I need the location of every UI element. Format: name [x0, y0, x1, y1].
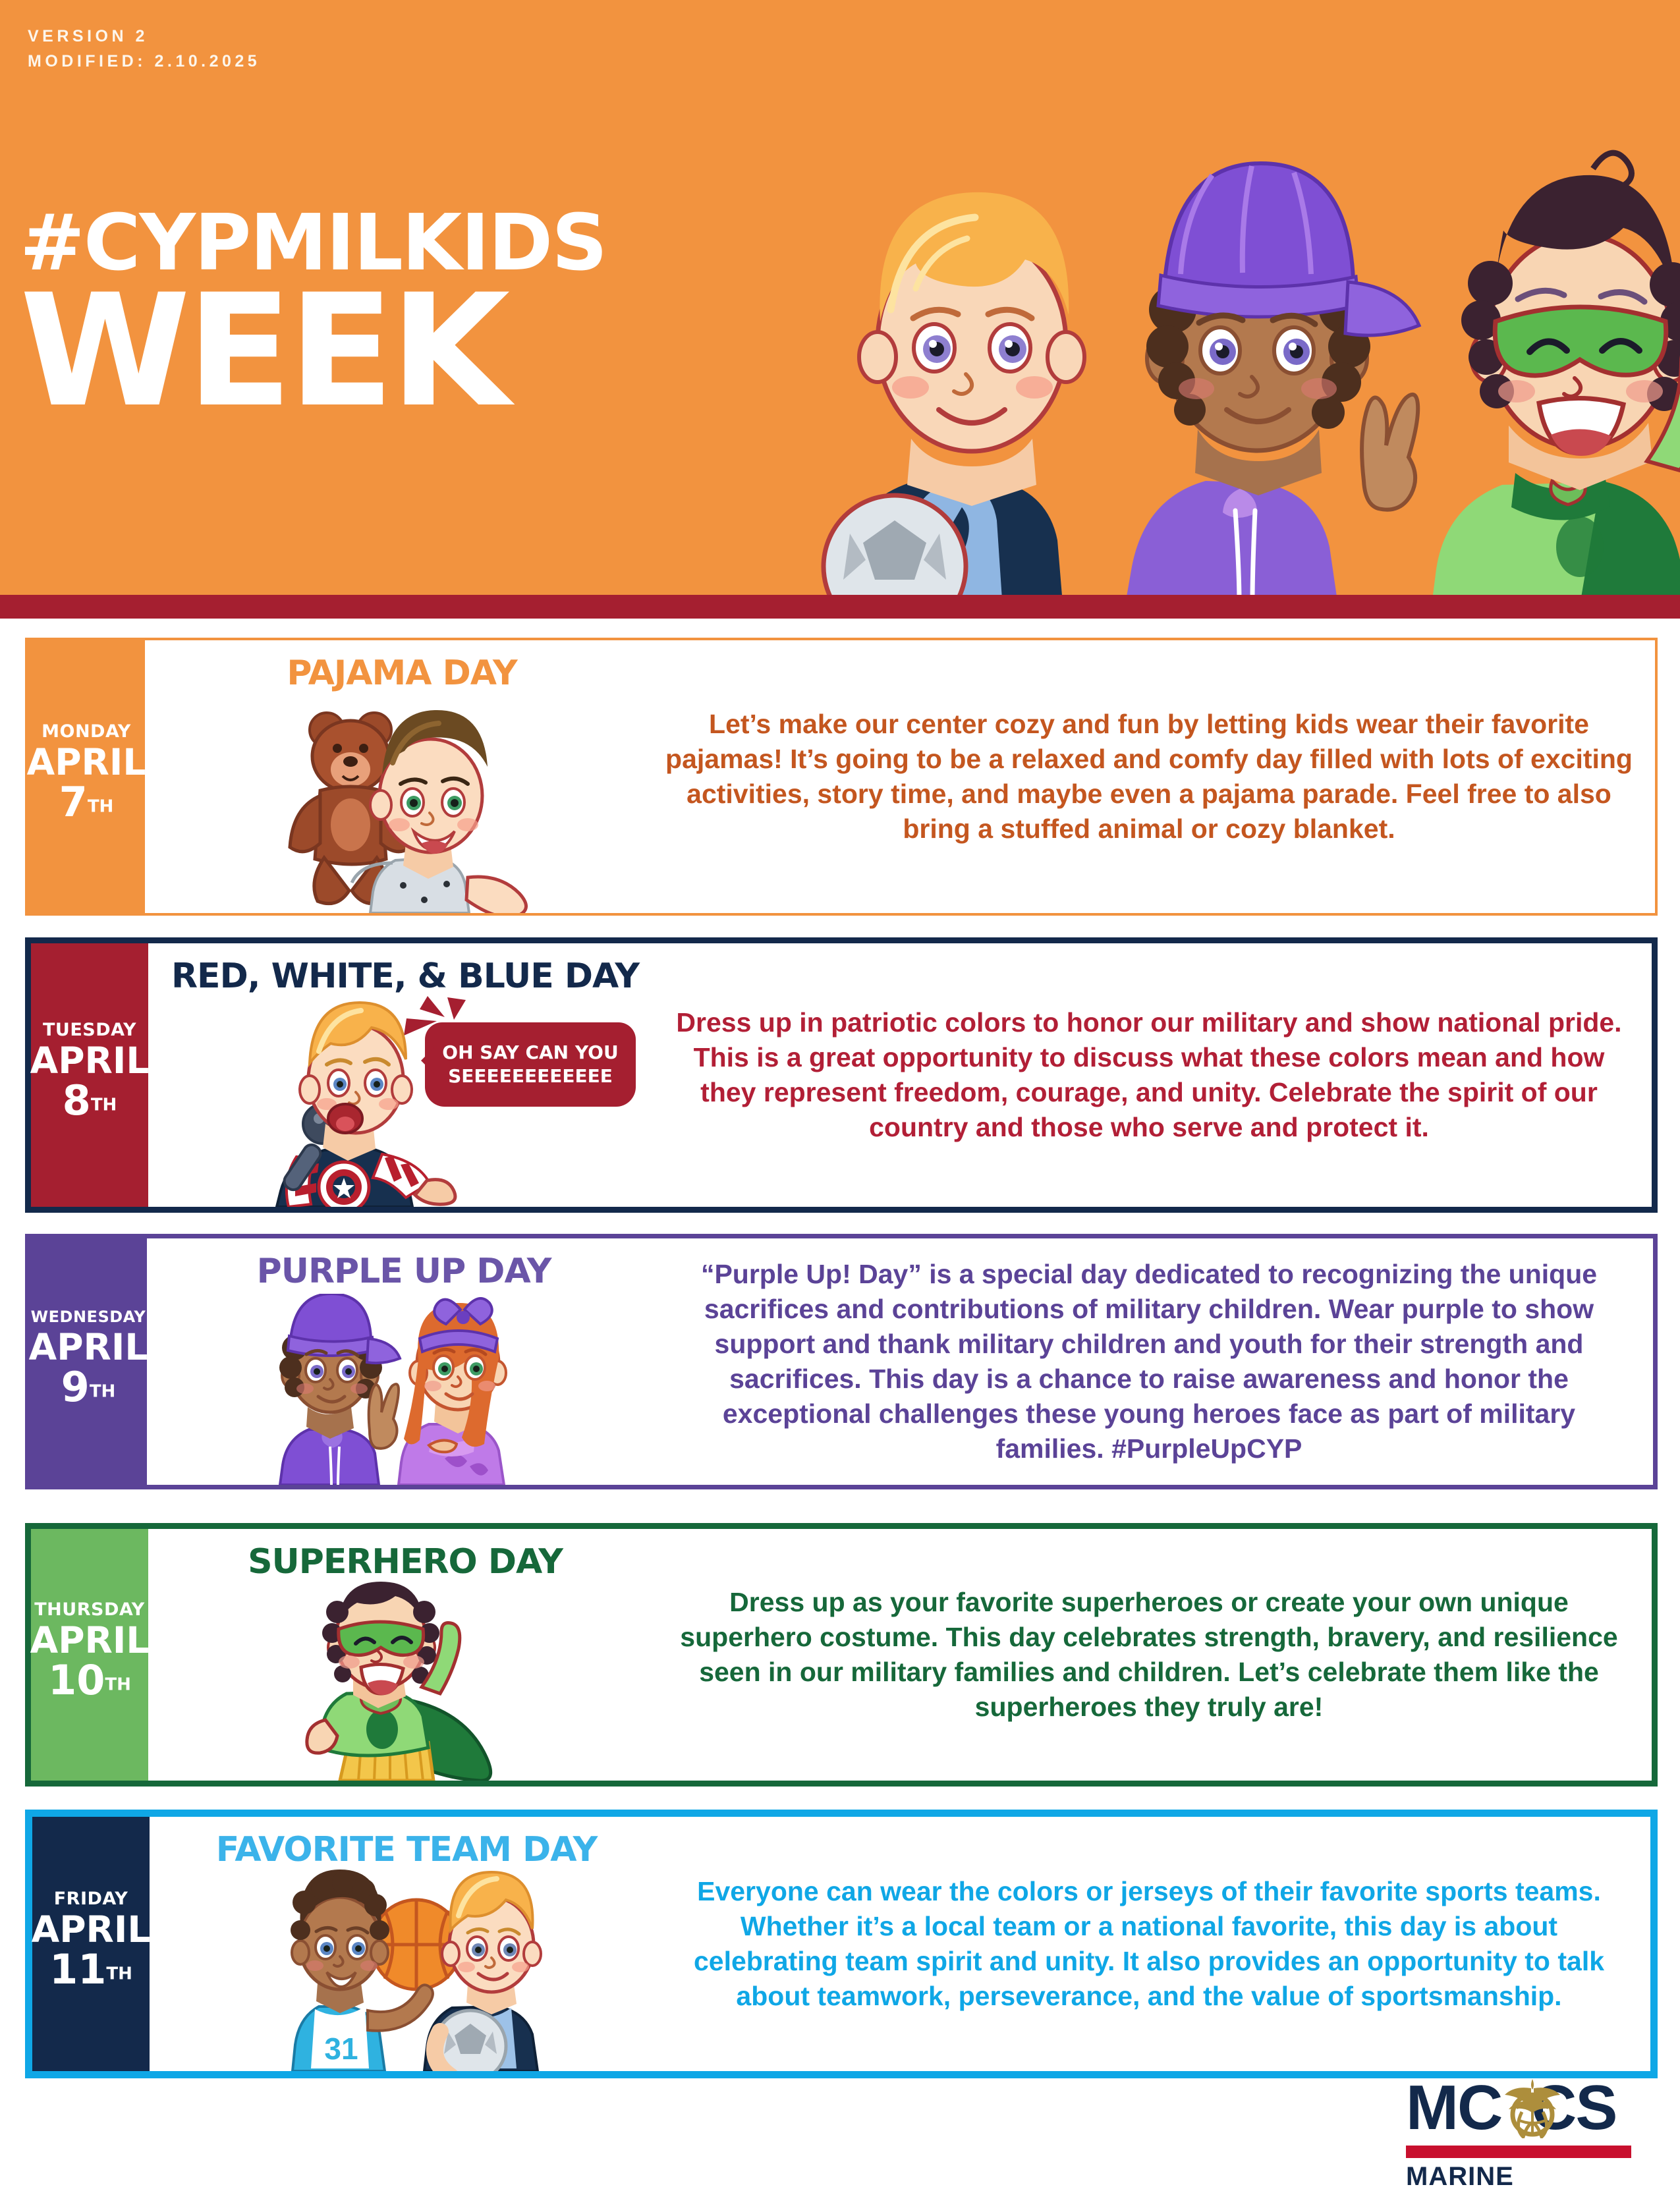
page-title-line2: WEEK — [20, 286, 606, 418]
header-accent-band — [0, 595, 1680, 619]
favorite-team-day-illustration: 31 — [275, 1867, 559, 2071]
day-of-week: MONDAY — [42, 721, 131, 742]
mccs-wordmark: MC CS — [1402, 2075, 1647, 2138]
row-body-tuesday: RED, WHITE, & BLUE DAY OH SAY CAN YOU SE… — [148, 943, 1652, 1207]
day-title-tuesday: RED, WHITE, & BLUE DAY — [148, 956, 662, 996]
art-column-thursday: SUPERHERO DAY — [148, 1529, 662, 1781]
day-description-tuesday: Dress up in patriotic colors to honor ou… — [669, 1005, 1629, 1145]
month-label: APRIL — [29, 1329, 148, 1366]
month-label: APRIL — [30, 1622, 150, 1659]
hashtag-purpleupcyp: #PurpleUpCYP — [1111, 1433, 1302, 1464]
bubble-line-1: OH SAY CAN YOU — [442, 1041, 618, 1065]
date-number: 7 — [59, 778, 88, 826]
date-number-wrap: 10TH — [48, 1661, 131, 1710]
art-column-friday: FAVORITE TEAM DAY 31 — [150, 1817, 663, 2071]
header-kids-illustration — [751, 112, 1680, 595]
date-block-monday: MONDAY APRIL 7TH — [28, 640, 145, 913]
day-of-week: TUESDAY — [43, 1020, 136, 1041]
date-number-wrap: 11TH — [49, 1951, 132, 1999]
text-column-monday: Let’s make our center cozy and fun by le… — [659, 640, 1655, 913]
patriotic-day-illustration — [245, 1001, 462, 1207]
mccs-logo: MC CS MARINE CORPS COMMUNITY SERVICES — [1402, 2075, 1647, 2189]
row-body-friday: FAVORITE TEAM DAY 31 — [150, 1817, 1650, 2071]
svg-text:31: 31 — [324, 2032, 358, 2066]
month-label: APRIL — [32, 1911, 151, 1948]
text-column-thursday: Dress up as your favorite superheroes or… — [662, 1529, 1652, 1781]
flyer-page: VERSION 2 MODIFIED: 2.10.2025 — [0, 0, 1680, 2189]
day-of-week: FRIDAY — [54, 1889, 128, 1910]
day-title-friday: FAVORITE TEAM DAY — [150, 1830, 663, 1870]
version-text: VERSION 2 — [28, 24, 260, 49]
day-row-thursday: THURSDAY APRIL 10TH SUPERHERO DAY — [25, 1523, 1658, 1787]
day-row-tuesday: TUESDAY APRIL 8TH RED, WHITE, & BLUE DAY… — [25, 937, 1658, 1213]
day-title-monday: PAJAMA DAY — [145, 653, 659, 693]
month-label: APRIL — [30, 1042, 150, 1079]
date-number-wrap: 9TH — [61, 1368, 116, 1417]
day-description-friday: Everyone can wear the colors or jerseys … — [670, 1874, 1628, 2014]
bubble-line-2: SEEEEEEEEEEEE — [448, 1065, 613, 1088]
day-row-wednesday: WEDNESDAY APRIL 9TH PURPLE UP DAY — [25, 1234, 1658, 1489]
modified-text: MODIFIED: 2.10.2025 — [28, 49, 260, 74]
day-description-thursday: Dress up as your favorite superheroes or… — [669, 1585, 1629, 1725]
date-suffix: TH — [105, 1675, 131, 1695]
date-number: 10 — [48, 1656, 105, 1704]
date-suffix: TH — [91, 1095, 117, 1115]
text-column-friday: Everyone can wear the colors or jerseys … — [663, 1817, 1650, 2071]
day-row-monday: MONDAY APRIL 7TH PAJAMA DAY — [25, 638, 1658, 916]
date-number-wrap: 8TH — [63, 1082, 117, 1130]
day-description-wednesday: “Purple Up! Day” is a special day dedica… — [667, 1257, 1631, 1466]
date-number: 11 — [49, 1945, 106, 1993]
svg-text:MC: MC — [1406, 2075, 1501, 2138]
date-number: 9 — [61, 1363, 90, 1411]
row-body-thursday: SUPERHERO DAY — [148, 1529, 1652, 1781]
logo-red-bar — [1406, 2146, 1631, 2158]
day-title-wednesday: PURPLE UP DAY — [147, 1252, 661, 1291]
date-suffix: TH — [90, 1382, 116, 1402]
date-number-wrap: 7TH — [59, 783, 114, 832]
date-number: 8 — [63, 1076, 91, 1124]
day-of-week: THURSDAY — [34, 1599, 144, 1621]
day-description-monday: Let’s make our center cozy and fun by le… — [665, 707, 1633, 846]
row-body-monday: PAJAMA DAY — [145, 640, 1655, 913]
version-block: VERSION 2 MODIFIED: 2.10.2025 — [28, 24, 260, 74]
pajama-day-illustration — [264, 696, 540, 913]
day-title-thursday: SUPERHERO DAY — [148, 1542, 662, 1582]
text-column-wednesday: “Purple Up! Day” is a special day dedica… — [661, 1238, 1653, 1485]
month-label: APRIL — [27, 744, 146, 781]
text-column-tuesday: Dress up in patriotic colors to honor ou… — [662, 943, 1652, 1207]
logo-tagline: MARINE CORPS COMMUNITY SERVICES — [1402, 2163, 1647, 2189]
masthead: #CYPMILKIDS WEEK — [20, 204, 606, 418]
row-body-wednesday: PURPLE UP DAY — [147, 1238, 1653, 1485]
page-header: VERSION 2 MODIFIED: 2.10.2025 — [0, 0, 1680, 595]
day-row-friday: FRIDAY APRIL 11TH FAVORITE TEAM DAY — [25, 1810, 1658, 2078]
art-column-wednesday: PURPLE UP DAY — [147, 1238, 661, 1485]
date-block-thursday: THURSDAY APRIL 10TH — [31, 1529, 148, 1781]
purple-up-day-illustration — [266, 1294, 542, 1485]
date-suffix: TH — [106, 1964, 132, 1984]
art-column-monday: PAJAMA DAY — [145, 640, 659, 913]
superhero-day-illustration — [253, 1582, 517, 1781]
date-block-wednesday: WEDNESDAY APRIL 9TH — [30, 1238, 147, 1485]
date-block-friday: FRIDAY APRIL 11TH — [32, 1817, 150, 2071]
logo-marine-corps: MARINE CORPS — [1406, 2163, 1557, 2189]
day-of-week: WEDNESDAY — [31, 1306, 146, 1327]
date-block-tuesday: TUESDAY APRIL 8TH — [31, 943, 148, 1207]
art-column-tuesday: RED, WHITE, & BLUE DAY OH SAY CAN YOU SE… — [148, 943, 662, 1207]
date-suffix: TH — [88, 797, 114, 817]
